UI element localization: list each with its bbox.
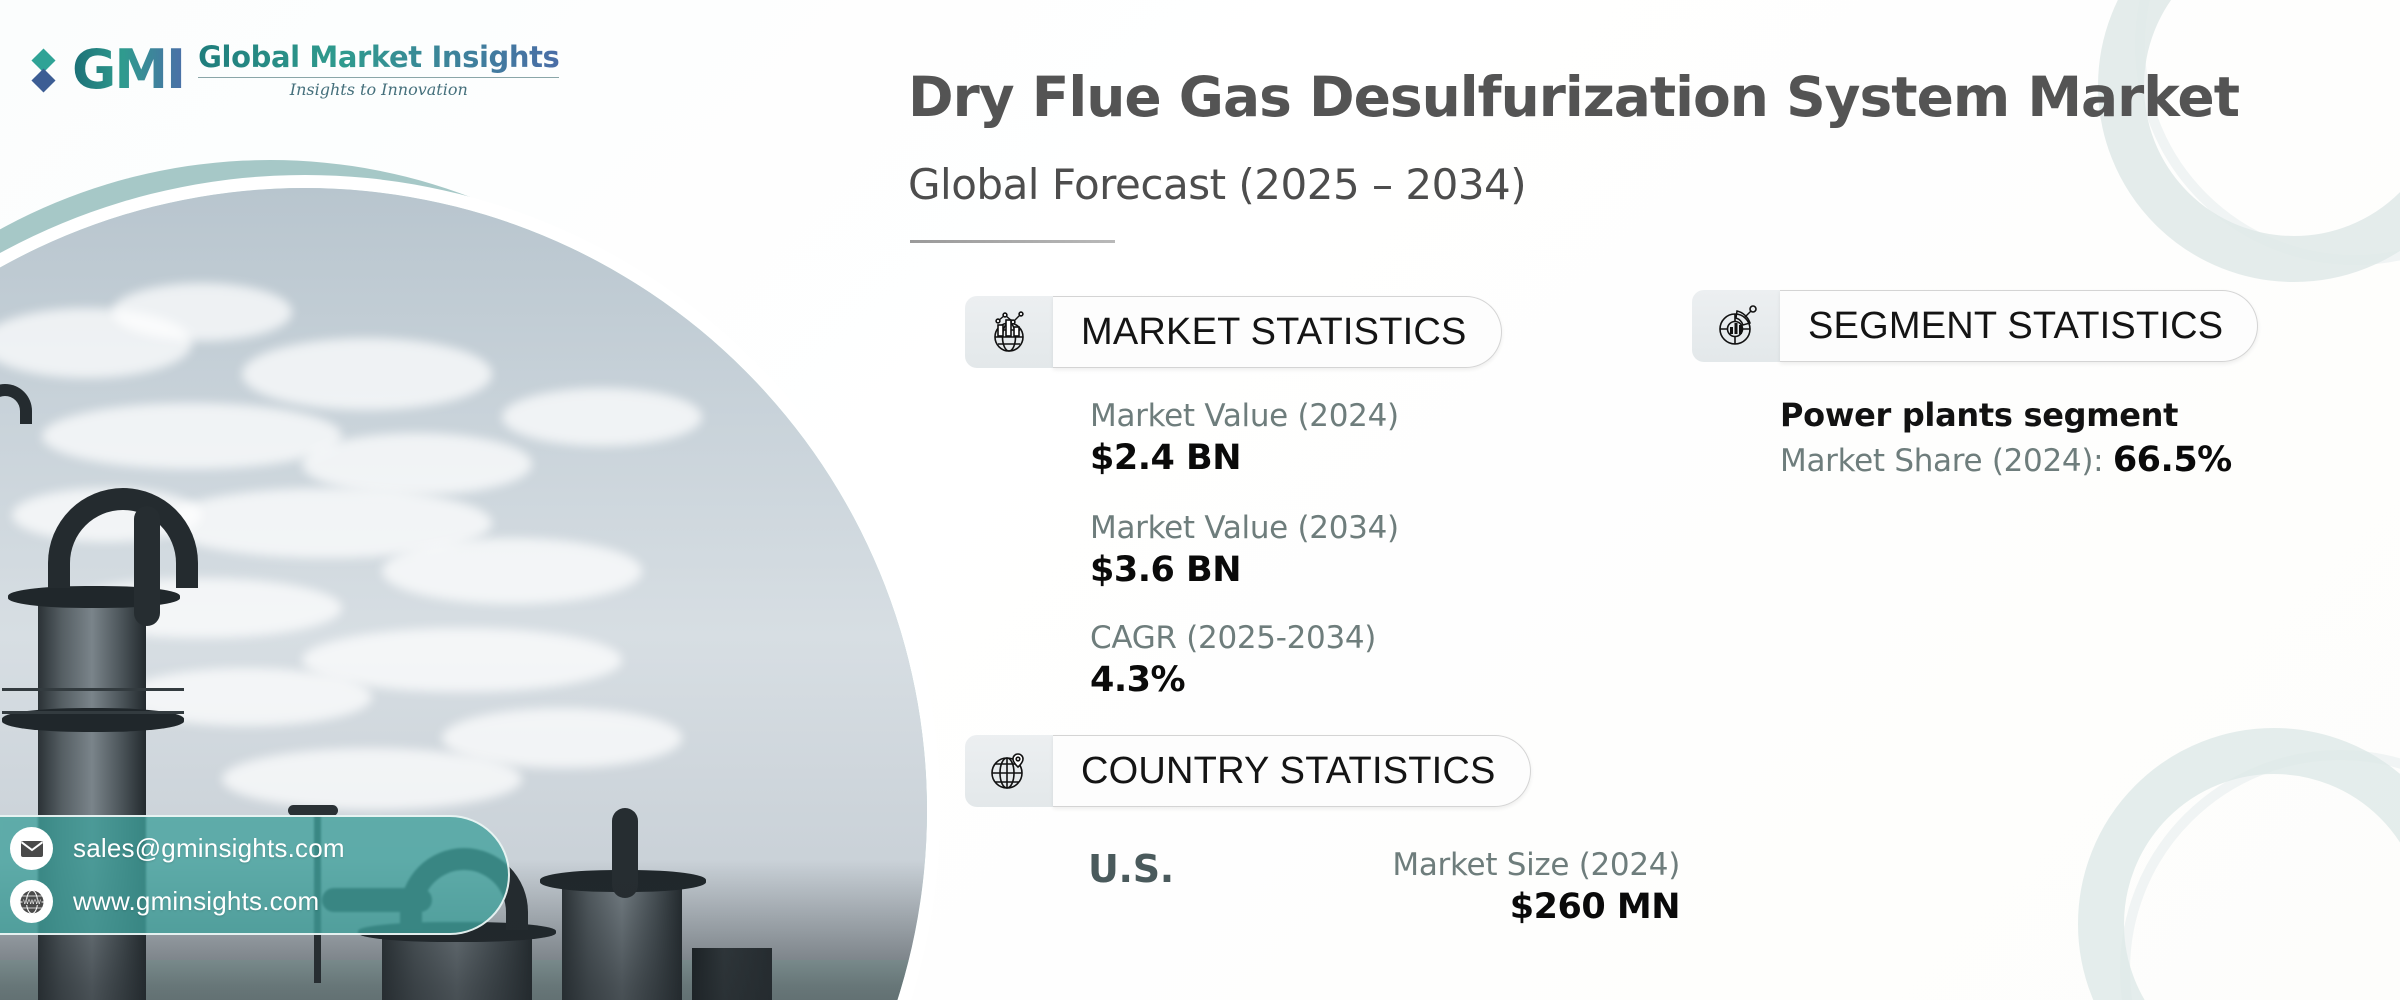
logo-wordmark: Global Market Insights Insights to Innov… [198,40,559,99]
decorative-ring-bottom-right-outer [2120,750,2400,1000]
title-underline [910,240,1115,243]
hero-photo-area: sales@gminsights.com WWW www.gminsights.… [0,0,990,1000]
contact-pill[interactable]: sales@gminsights.com WWW www.gminsights.… [0,815,510,935]
country-name-block: U.S. [1088,847,1174,891]
www-globe-icon: WWW [10,880,53,923]
decorative-ring-top-right [2098,0,2400,282]
market-stat-value-2: 4.3% [1090,659,1376,703]
country-size-block: Market Size (2024) $260 MN [1360,845,1680,930]
globe-bar-chart-icon [965,296,1053,368]
contact-email-row[interactable]: sales@gminsights.com [10,827,508,870]
contact-website-row[interactable]: WWW www.gminsights.com [10,880,508,923]
market-statistics-pill[interactable]: MARKET STATISTICS [965,296,1502,368]
segment-share-value: 66.5% [2113,440,2232,480]
segment-stat-block: Power plants segment Market Share (2024)… [1780,396,2232,480]
decorative-ring-top-right-outer [2135,0,2400,265]
logo-company-name: Global Market Insights [198,40,559,74]
decorative-ring-bottom-right [2078,728,2400,1000]
logo-divider [198,77,559,78]
logo-tagline: Insights to Innovation [198,80,559,99]
country-statistics-pill[interactable]: COUNTRY STATISTICS [965,735,1531,807]
market-stat-label-0: Market Value (2024) [1090,396,1399,437]
market-stat-value-1: $3.6 BN [1090,549,1399,593]
logo-diamond-mark [30,42,58,98]
segment-name: Power plants segment [1780,396,2232,434]
globe-pin-icon [965,735,1053,807]
segment-share-label: Market Share (2024): [1780,443,2113,479]
website-text: www.gminsights.com [73,886,319,917]
donut-chart-icon [1692,290,1780,362]
market-statistics-label: MARKET STATISTICS [1053,296,1502,368]
infographic-canvas: sales@gminsights.com WWW www.gminsights.… [0,0,2400,1000]
email-text: sales@gminsights.com [73,833,345,864]
svg-text:WWW: WWW [23,899,41,906]
country-statistics-label: COUNTRY STATISTICS [1053,735,1531,807]
market-stat-value-0: $2.4 BN [1090,437,1399,481]
segment-statistics-pill[interactable]: SEGMENT STATISTICS [1692,290,2258,362]
market-stat-row-0: Market Value (2024) $2.4 BN [1090,396,1399,481]
gmi-logo[interactable]: GMI Global Market Insights Insights to I… [30,40,559,99]
segment-share-line: Market Share (2024): 66.5% [1780,440,2232,480]
market-stat-label-1: Market Value (2034) [1090,508,1399,549]
logo-gmi-mark: GMI [72,43,184,97]
page-subtitle: Global Forecast (2025 – 2034) [908,160,1526,209]
segment-statistics-label: SEGMENT STATISTICS [1780,290,2258,362]
market-stat-row-2: CAGR (2025-2034) 4.3% [1090,618,1376,703]
market-stat-row-1: Market Value (2034) $3.6 BN [1090,508,1399,593]
page-title: Dry Flue Gas Desulfurization System Mark… [908,68,2338,127]
market-stat-label-2: CAGR (2025-2034) [1090,618,1376,659]
country-size-label: Market Size (2024) [1360,845,1680,886]
country-size-value: $260 MN [1360,886,1680,930]
country-name: U.S. [1088,847,1174,891]
envelope-icon [10,827,53,870]
